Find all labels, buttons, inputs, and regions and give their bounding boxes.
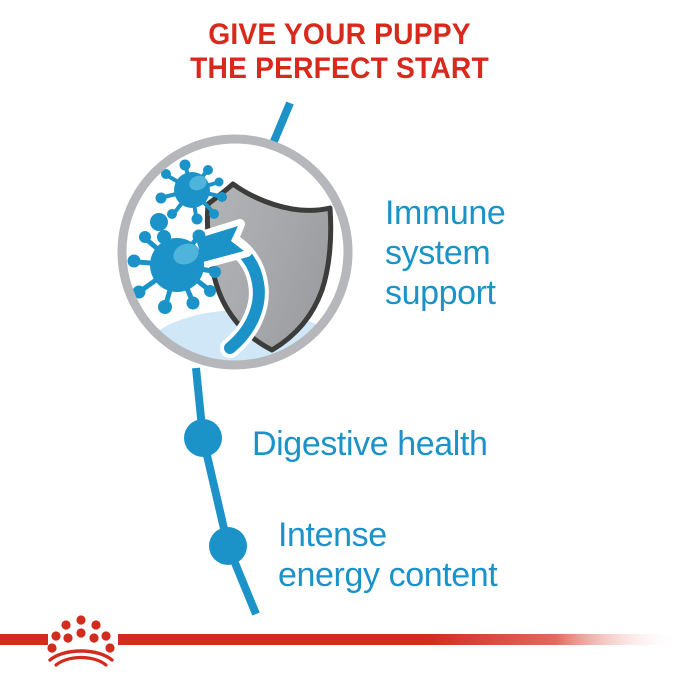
benefit-label-intense-energy-content: Intense energy content <box>278 515 497 595</box>
royal-canin-brand-bar <box>0 615 679 665</box>
brand-bar-right <box>118 634 679 645</box>
product-benefits-panel: GIVE YOUR PUPPY THE PERFECT START <box>0 0 679 679</box>
germ-dot-icon <box>150 213 168 231</box>
connector-segment-top <box>272 103 290 146</box>
benefit-label-immune-system-support: Immune system support <box>385 193 505 313</box>
connector-node-energy <box>209 527 247 565</box>
royal-canin-crown-logo <box>47 615 114 665</box>
connector-node-digestive <box>184 419 222 457</box>
immune-shield-icon <box>122 139 348 400</box>
benefit-label-digestive-health: Digestive health <box>252 424 488 464</box>
crown-arc-inner <box>56 658 106 666</box>
brand-bar-left <box>0 634 48 645</box>
